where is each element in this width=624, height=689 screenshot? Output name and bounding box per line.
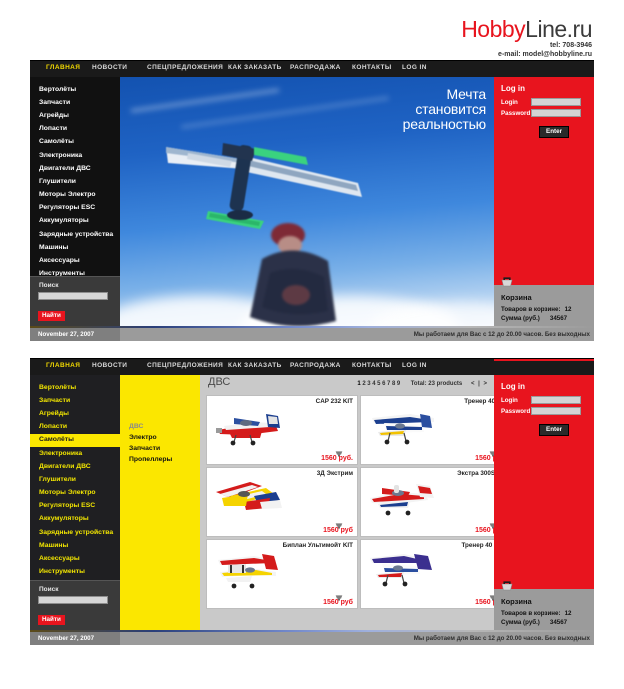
- nav-item-4[interactable]: КАК ЗАКАЗАТЬ: [228, 64, 282, 71]
- cart-panel-2[interactable]: Корзина Товаров в корзине:12 Сумма (руб.…: [494, 589, 594, 632]
- sidebar-item-инструменты[interactable]: Инструменты: [30, 566, 120, 579]
- sidebar-item-двигатели-двс[interactable]: Двигатели ДВС: [30, 460, 120, 473]
- product-card[interactable]: CAP 232 KIT1560 руб.: [206, 395, 358, 465]
- cart-sum-label-2: Сумма (руб.): [501, 619, 540, 626]
- search-label: Поиск: [30, 282, 120, 292]
- nav-item-1[interactable]: ГЛАВНАЯ: [46, 64, 80, 71]
- sidebar-2: ВертолётыЗапчастиАгрейдыЛопастиСамолётыЭ…: [30, 375, 120, 632]
- sidebar-item-регуляторы-esc[interactable]: Регуляторы ESC: [30, 202, 120, 215]
- product-card[interactable]: Тренер 40 ARF1560 руб.: [360, 539, 512, 609]
- submenu-item-пропеллеры[interactable]: Пропеллеры: [129, 454, 200, 465]
- search-button[interactable]: Найти: [38, 311, 65, 321]
- logo-hobby: Hobby: [461, 16, 525, 42]
- search-button-2[interactable]: Найти: [38, 615, 65, 625]
- catalog-content: ДВС 123456789 Total: 23 products < | > C…: [200, 375, 494, 632]
- add-to-cart-icon[interactable]: [335, 589, 343, 597]
- footer-hours-2: Мы работаем для Вас с 12 до 20.00 часов.…: [414, 632, 590, 645]
- contact-email: e-mail: model@hobbyline.ru: [498, 50, 592, 59]
- submenu-column: ДВСЭлектроЗапчастиПропеллеры: [120, 375, 200, 632]
- screen-home: HobbyLine.ru tel: 708-3946 e-mail: model…: [30, 14, 594, 344]
- footer-date: November 27, 2007: [30, 328, 120, 341]
- nav-item-3[interactable]: СПЕЦПРЕДЛОЖЕНИЯ: [147, 64, 223, 71]
- product-image: [210, 476, 288, 520]
- sidebar-item-зарядные-устройства[interactable]: Зарядные устройства: [30, 228, 120, 241]
- product-grid: CAP 232 KIT1560 руб.Тренер 40 KIT1560 ру…: [206, 395, 488, 614]
- sidebar-item-электроника[interactable]: Электроника: [30, 447, 120, 460]
- nav-item-4[interactable]: КАК ЗАКАЗАТЬ: [228, 362, 282, 369]
- catalog-title: ДВС: [208, 376, 230, 388]
- cart-count-row: Товаров в корзине:12: [501, 305, 594, 314]
- password-label: Password: [501, 110, 531, 117]
- catalog-body: ВертолётыЗапчастиАгрейдыЛопастиСамолётыЭ…: [30, 375, 594, 632]
- sidebar-menu: ВертолётыЗапчастиАгрейдыЛопастиСамолётыЭ…: [30, 77, 120, 285]
- nav-item-7[interactable]: LOG IN: [402, 362, 427, 369]
- next-page-arrow[interactable]: >: [483, 381, 488, 387]
- sidebar-item-глушители[interactable]: Глушители: [30, 175, 120, 188]
- screen-catalog: ГЛАВНАЯНОВОСТИСПЕЦПРЕДЛОЖЕНИЯКАК ЗАКАЗАТ…: [30, 358, 594, 646]
- cart-count-label: Товаров в корзине:: [501, 306, 561, 313]
- sidebar-item-электроника[interactable]: Электроника: [30, 149, 120, 162]
- submenu-list: ДВСЭлектроЗапчастиПропеллеры: [120, 375, 200, 465]
- footer-home: November 27, 2007 Мы работаем для Вас с …: [30, 328, 594, 341]
- sidebar-item-агрейды[interactable]: Агрейды: [30, 109, 120, 122]
- sidebar-item-моторы-электро[interactable]: Моторы Электро: [30, 189, 120, 202]
- sidebar-item-вертолёты[interactable]: Вертолёты: [30, 83, 120, 96]
- submenu-item-электро[interactable]: Электро: [129, 432, 200, 443]
- sidebar-item-самолёты[interactable]: Самолёты: [30, 434, 120, 447]
- nav-item-7[interactable]: LOG IN: [402, 64, 427, 71]
- home-body: ВертолётыЗапчастиАгрейдыЛопастиСамолётыЭ…: [30, 77, 594, 328]
- sidebar-item-вертолёты[interactable]: Вертолёты: [30, 381, 120, 394]
- nav-red-accent: [494, 359, 594, 361]
- sidebar-item-самолёты[interactable]: Самолёты: [30, 136, 120, 149]
- search-input[interactable]: [38, 292, 108, 300]
- submenu-item-запчасти[interactable]: Запчасти: [129, 443, 200, 454]
- sidebar: ВертолётыЗапчастиАгрейдыЛопастиСамолётыЭ…: [30, 77, 120, 328]
- footer-date-2: November 27, 2007: [30, 632, 120, 645]
- search-panel: Поиск Найти: [30, 276, 120, 328]
- logo-ru: .ru: [567, 16, 592, 42]
- login-enter-button[interactable]: Enter: [539, 126, 569, 138]
- nav-item-3[interactable]: СПЕЦПРЕДЛОЖЕНИЯ: [147, 362, 223, 369]
- sidebar-item-запчасти[interactable]: Запчасти: [30, 96, 120, 109]
- login-panel: Log in Login Password Enter: [494, 77, 594, 138]
- login-input[interactable]: [531, 98, 581, 106]
- nav-item-6[interactable]: КОНТАКТЫ: [352, 362, 392, 369]
- search-input-2[interactable]: [38, 596, 108, 604]
- top-navigation-2: ГЛАВНАЯНОВОСТИСПЕЦПРЕДЛОЖЕНИЯКАК ЗАКАЗАТ…: [30, 358, 594, 375]
- login-panel-2: Log in Login Password Enter: [494, 375, 594, 436]
- product-image: [210, 404, 288, 448]
- banner-headline: Мечта становится реальностью: [403, 87, 486, 132]
- search-label-2: Поиск: [30, 586, 120, 596]
- login-label-2: Login: [501, 397, 531, 404]
- sidebar-item-аксессуары[interactable]: Аксессуары: [30, 254, 120, 267]
- login-enter-button-2[interactable]: Enter: [539, 424, 569, 436]
- sidebar-item-аккумуляторы[interactable]: Аккумуляторы: [30, 513, 120, 526]
- sidebar-item-регуляторы-esc[interactable]: Регуляторы ESC: [30, 500, 120, 513]
- add-to-cart-icon[interactable]: [335, 445, 343, 453]
- right-column: Log in Login Password Enter Корзи: [494, 77, 594, 328]
- cart-sum-label: Сумма (руб.): [501, 315, 540, 322]
- site-logo[interactable]: HobbyLine.ru: [461, 16, 592, 43]
- sidebar-item-машины[interactable]: Машины: [30, 241, 120, 254]
- sidebar-item-запчасти[interactable]: Запчасти: [30, 394, 120, 407]
- product-title: CAP 232 KIT: [316, 398, 353, 406]
- logo-line: Line: [525, 16, 566, 42]
- banner-line-3: реальностью: [403, 117, 486, 132]
- cart-title-2: Корзина: [501, 597, 594, 606]
- catalog-header: ДВС 123456789 Total: 23 products < | >: [200, 375, 494, 395]
- cart-panel[interactable]: Корзина Товаров в корзине:12 Сумма (руб.…: [494, 285, 594, 328]
- cart-sum-row: Сумма (руб.)34567: [501, 314, 594, 323]
- product-title: 3Д Экстрим: [317, 470, 353, 478]
- nav-item-2[interactable]: НОВОСТИ: [92, 362, 127, 369]
- nav-item-5[interactable]: РАСПРОДАЖА: [290, 64, 341, 71]
- cart-count-row-2: Товаров в корзине:12: [501, 609, 594, 618]
- contact-tel: tel: 708-3946: [498, 41, 592, 50]
- nav-item-6[interactable]: КОНТАКТЫ: [352, 64, 392, 71]
- page-root: HobbyLine.ru tel: 708-3946 e-mail: model…: [0, 0, 624, 689]
- banner-line-1: Мечта: [403, 87, 486, 102]
- sidebar-item-аксессуары[interactable]: Аксессуары: [30, 552, 120, 565]
- cart-sum-value-2: 34567: [540, 618, 567, 627]
- sidebar-menu-2: ВертолётыЗапчастиАгрейдыЛопастиСамолётыЭ…: [30, 375, 120, 583]
- contact-info: tel: 708-3946 e-mail: model@hobbyline.ru: [498, 41, 592, 59]
- search-panel-2: Поиск Найти: [30, 580, 120, 632]
- product-price: 1560 руб: [323, 527, 353, 534]
- cart-count-value-2: 12: [561, 609, 572, 618]
- password-label-2: Password: [501, 408, 531, 415]
- pilot-silhouette: [232, 217, 362, 328]
- cart-sum-value: 34567: [540, 314, 567, 323]
- product-image: [364, 404, 442, 448]
- hero-banner: Мечта становится реальностью: [120, 77, 494, 328]
- product-price: 1560 руб.: [321, 455, 353, 462]
- product-card[interactable]: Тренер 40 KIT1560 руб.: [360, 395, 512, 465]
- total-products: Total: 23 products: [403, 381, 463, 387]
- right-column-2: Log in Login Password Enter Корзи: [494, 375, 594, 632]
- footer-catalog: November 27, 2007 Мы работаем для Вас с …: [30, 632, 594, 645]
- shopping-cart-icon-2: [501, 580, 513, 592]
- sidebar-item-лопасти[interactable]: Лопасти: [30, 123, 120, 136]
- product-card[interactable]: 3Д Экстрим1560 руб: [206, 467, 358, 537]
- product-card[interactable]: Биплан Ультимойт KIT1560 руб: [206, 539, 358, 609]
- login-input-2[interactable]: [531, 396, 581, 404]
- product-price: 1560 руб: [323, 599, 353, 606]
- cart-sum-row-2: Сумма (руб.)34567: [501, 618, 594, 627]
- password-input[interactable]: [531, 109, 581, 117]
- cart-count-label-2: Товаров в корзине:: [501, 610, 561, 617]
- sidebar-item-двигатели-двс[interactable]: Двигатели ДВС: [30, 162, 120, 175]
- sidebar-item-машины[interactable]: Машины: [30, 539, 120, 552]
- login-title: Log in: [501, 84, 594, 93]
- sidebar-item-аккумуляторы[interactable]: Аккумуляторы: [30, 215, 120, 228]
- product-image: [364, 548, 442, 592]
- cart-count-value: 12: [561, 305, 572, 314]
- masthead: HobbyLine.ru tel: 708-3946 e-mail: model…: [30, 14, 594, 60]
- nav-item-2[interactable]: НОВОСТИ: [92, 64, 127, 71]
- submenu-item-двс[interactable]: ДВС: [129, 421, 200, 432]
- prev-page-arrow[interactable]: <: [471, 381, 476, 387]
- sidebar-item-лопасти[interactable]: Лопасти: [30, 421, 120, 434]
- product-title: Биплан Ультимойт KIT: [283, 542, 353, 550]
- login-title-2: Log in: [501, 382, 594, 391]
- sidebar-item-агрейды[interactable]: Агрейды: [30, 407, 120, 420]
- pagination-arrows: < | >: [464, 381, 488, 387]
- sidebar-item-моторы-электро[interactable]: Моторы Электро: [30, 487, 120, 500]
- login-label: Login: [501, 99, 531, 106]
- banner-line-2: становится: [403, 102, 486, 117]
- shopping-cart-icon: [501, 276, 513, 288]
- top-navigation: ГЛАВНАЯНОВОСТИСПЕЦПРЕДЛОЖЕНИЯКАК ЗАКАЗАТ…: [30, 60, 594, 77]
- page-link-9[interactable]: 9: [396, 381, 401, 387]
- product-image: [210, 548, 288, 592]
- footer-hours: Мы работаем для Вас с 12 до 20.00 часов.…: [414, 328, 590, 341]
- product-image: [364, 476, 442, 520]
- sidebar-item-глушители[interactable]: Глушители: [30, 473, 120, 486]
- add-to-cart-icon[interactable]: [335, 517, 343, 525]
- nav-item-5[interactable]: РАСПРОДАЖА: [290, 362, 341, 369]
- password-input-2[interactable]: [531, 407, 581, 415]
- product-card[interactable]: Экстра 300S KIT1560 руб.: [360, 467, 512, 537]
- sidebar-item-зарядные-устройства[interactable]: Зарядные устройства: [30, 526, 120, 539]
- cart-title: Корзина: [501, 293, 594, 302]
- nav-item-1[interactable]: ГЛАВНАЯ: [46, 362, 80, 369]
- pagination-separator: |: [478, 381, 481, 387]
- pagination: 123456789 Total: 23 products < | >: [357, 381, 488, 387]
